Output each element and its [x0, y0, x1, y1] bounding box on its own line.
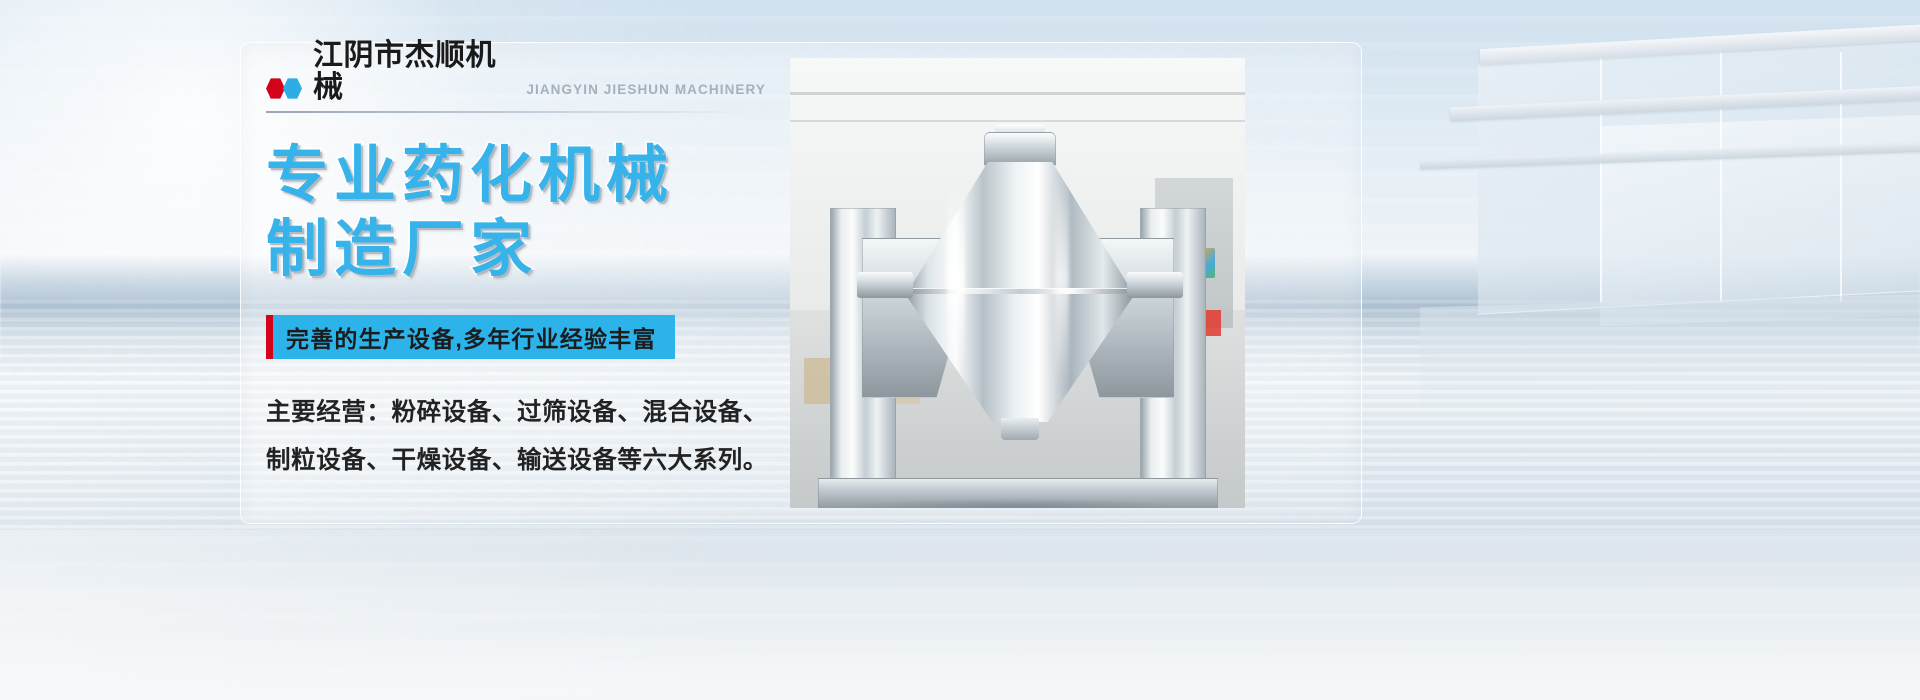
- headline-line-2: 制造厂家: [266, 213, 766, 287]
- photo-ceiling-beam: [790, 92, 1245, 95]
- brand-name-cn: 江阴市杰顺机械: [313, 40, 515, 104]
- mullion: [1720, 52, 1722, 302]
- hexagon-red-icon: [266, 78, 285, 99]
- body-line-1: 主要经营：粉碎设备、过筛设备、混合设备、: [266, 389, 766, 437]
- vessel-trunnion: [1127, 272, 1183, 298]
- content-column: 江阴市杰顺机械 JIANGYIN JIESHUN MACHINERY 专业药化机…: [266, 64, 766, 485]
- highlight-text: 完善的生产设备,多年行业经验丰富: [286, 320, 657, 354]
- vessel-lower-cone: [905, 294, 1135, 422]
- headline: 专业药化机械 制造厂家: [266, 139, 766, 287]
- hexagon-pair-icon: [266, 78, 302, 99]
- hexagon-blue-icon: [283, 78, 302, 99]
- architecture-floor: [1420, 293, 1920, 428]
- headline-line-1: 专业药化机械: [266, 139, 766, 213]
- vessel-discharge-outlet: [1001, 418, 1039, 440]
- brand-divider: [266, 111, 746, 113]
- vessel-highlight: [1055, 172, 1069, 382]
- hero-banner: 江阴市杰顺机械 JIANGYIN JIESHUN MACHINERY 专业药化机…: [0, 0, 1920, 700]
- double-cone-vessel: [905, 122, 1135, 422]
- brand-name-en: JIANGYIN JIESHUN MACHINERY: [526, 82, 766, 97]
- machine-shadow: [850, 498, 1180, 508]
- mullion: [1600, 52, 1602, 302]
- vessel-trunnion: [857, 272, 913, 298]
- vessel-highlight: [947, 182, 965, 372]
- body-line-2: 制粒设备、干燥设备、输送设备等六大系列。: [266, 437, 766, 485]
- vessel-hatch: [984, 132, 1056, 166]
- brand-row: 江阴市杰顺机械 JIANGYIN JIESHUN MACHINERY: [266, 64, 766, 104]
- product-photo: [790, 58, 1245, 508]
- body-copy: 主要经营：粉碎设备、过筛设备、混合设备、 制粒设备、干燥设备、输送设备等六大系列…: [266, 389, 766, 485]
- background-fog: [0, 520, 1920, 700]
- highlight-banner: 完善的生产设备,多年行业经验丰富: [266, 315, 675, 359]
- vessel-upper-cone: [905, 162, 1135, 296]
